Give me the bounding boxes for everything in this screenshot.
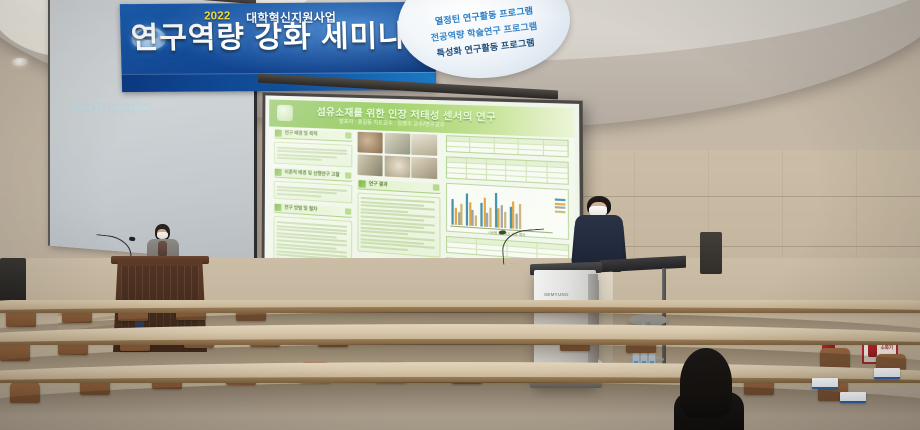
bar — [509, 207, 511, 229]
bar-group — [451, 188, 463, 225]
desk-placard — [840, 392, 866, 403]
legend-swatch — [555, 210, 566, 213]
bar — [490, 208, 492, 227]
poster-text-block — [357, 192, 440, 258]
left-screen-message: Check TV's input signal — [72, 105, 149, 112]
bar — [466, 194, 468, 226]
section-number-badge — [275, 169, 282, 176]
banner-main-title: 연구역량 강화 세미나 — [130, 22, 431, 54]
loudspeaker-icon — [700, 232, 722, 274]
section-marker-icon — [345, 209, 351, 216]
poster-section-label: 이론적 배경 및 선행연구 고찰 — [285, 169, 340, 178]
bar — [519, 204, 521, 229]
section-marker-icon — [345, 132, 351, 138]
bar — [486, 213, 488, 227]
poster-image-grid — [358, 132, 441, 179]
bar — [498, 209, 500, 228]
poster-section-heading: 연구 배경 및 목적 — [274, 129, 352, 142]
poster-section-label: 연구 결과 — [369, 180, 388, 187]
bar — [472, 210, 474, 226]
desk-placard — [812, 378, 838, 389]
poster-bar-chart: 시료별 인장강도 비교 결과 — [446, 183, 569, 240]
bar-group — [495, 191, 507, 228]
ceiling-light-icon — [12, 58, 28, 66]
chart-legend — [555, 198, 566, 214]
bar — [495, 193, 497, 228]
poster-table-top — [446, 135, 569, 157]
poster-table-middle — [446, 156, 569, 185]
sem-image-1 — [358, 132, 383, 154]
section-number-badge — [275, 204, 282, 211]
bar — [512, 201, 514, 228]
poster-text-block — [274, 142, 353, 168]
university-emblem-icon — [277, 105, 293, 122]
poster-section-label: 연구 배경 및 목적 — [285, 130, 318, 137]
bar — [451, 198, 453, 224]
poster-section-heading: 이론적 배경 및 선행연구 고찰 — [274, 168, 353, 182]
section-number-badge — [275, 130, 282, 137]
bar-group — [480, 190, 492, 227]
face-mask-icon — [157, 232, 168, 239]
person-attendee — [678, 348, 742, 430]
bar — [469, 202, 471, 226]
poster-column-middle: 연구 결과 — [357, 132, 440, 272]
bar — [501, 205, 503, 228]
sem-image-3 — [411, 134, 437, 156]
sem-image-2 — [384, 133, 409, 155]
bar — [483, 197, 485, 226]
sem-image-6 — [411, 156, 437, 178]
bar — [516, 214, 518, 229]
lecture-hall-photo: Check TV's input signal 2022 대학혁신지원사업 연구… — [0, 0, 920, 430]
bar — [461, 204, 463, 226]
bar-group — [466, 189, 478, 226]
legend-swatch — [555, 206, 566, 209]
poster-section-heading: 연구 결과 — [357, 179, 440, 194]
section-number-badge — [359, 180, 366, 188]
auditorium-seating — [0, 300, 920, 430]
sem-image-5 — [384, 155, 410, 177]
poster-section-label: 연구 방법 및 절차 — [284, 205, 317, 213]
section-marker-icon — [345, 172, 351, 178]
bar-group — [509, 192, 521, 230]
bar — [475, 215, 477, 226]
moderator-inner-top — [158, 241, 167, 257]
lectern-logo: SEMYUNG — [544, 292, 569, 297]
bar — [480, 203, 482, 227]
attendee-hair — [680, 348, 732, 418]
legend-swatch — [555, 198, 566, 201]
legend-swatch — [555, 202, 566, 205]
sem-image-4 — [358, 154, 383, 176]
section-marker-icon — [433, 184, 440, 191]
bar — [455, 207, 457, 225]
seat-row — [0, 362, 920, 430]
bar — [504, 212, 506, 228]
poster-column-left: 연구 배경 및 목적 이론적 배경 및 선행연구 고찰 — [273, 129, 352, 265]
desk-placard — [874, 368, 900, 379]
bar-chart-plot-area — [451, 188, 551, 231]
bar — [458, 212, 460, 225]
poster-text-block — [274, 181, 353, 204]
